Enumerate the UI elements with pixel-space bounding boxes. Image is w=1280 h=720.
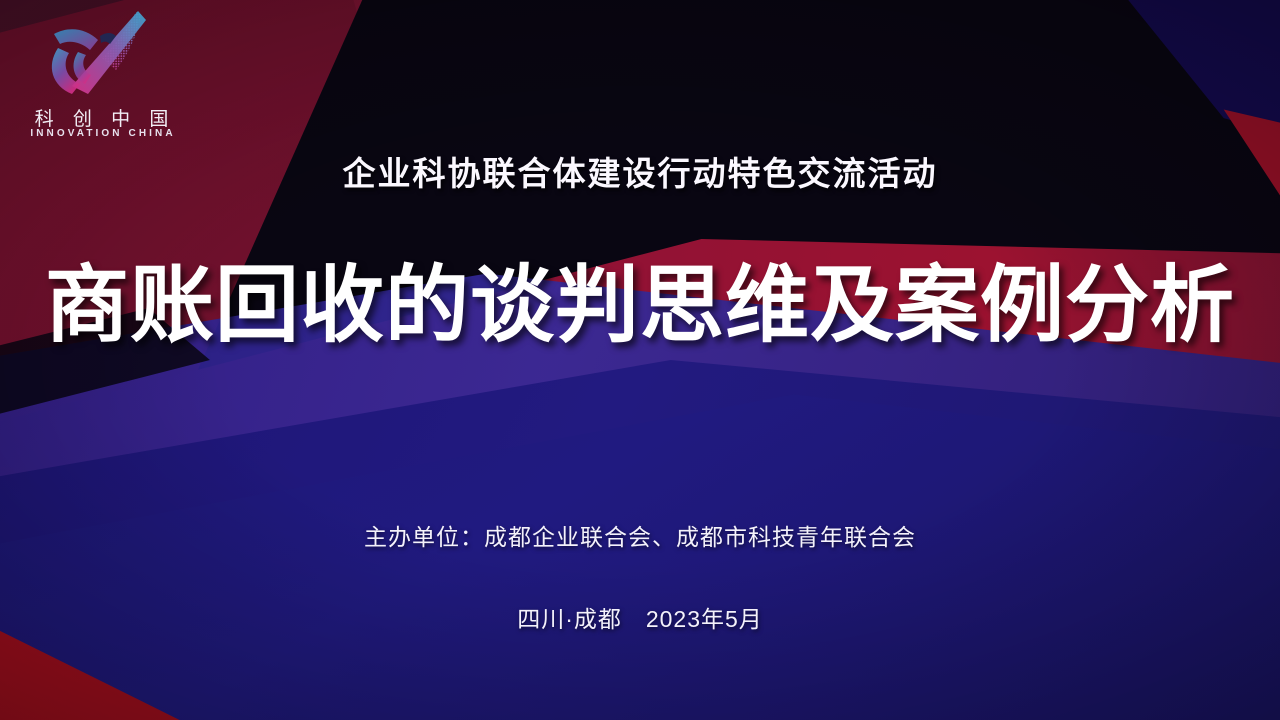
kechuang-zhongguo-logo-icon (42, 8, 158, 100)
slide-title: 商账回收的谈判思维及案例分析 (0, 258, 1280, 352)
organizer-line: 主办单位：成都企业联合会、成都市科技青年联合会 (0, 518, 1280, 552)
logo-chinese-name: 科 创 中 国 (14, 104, 189, 131)
venue-date-line: 四川·成都 2023年5月 (0, 600, 1280, 634)
logo-block: 科 创 中 国 INNOVATION CHINA (14, 8, 189, 143)
title-slide: 科 创 中 国 INNOVATION CHINA 企业科协联合体建设行动特色交流… (0, 0, 1280, 720)
logo-english-name: INNOVATION CHINA (14, 128, 189, 139)
event-subtitle: 企业科协联合体建设行动特色交流活动 (0, 147, 1280, 195)
